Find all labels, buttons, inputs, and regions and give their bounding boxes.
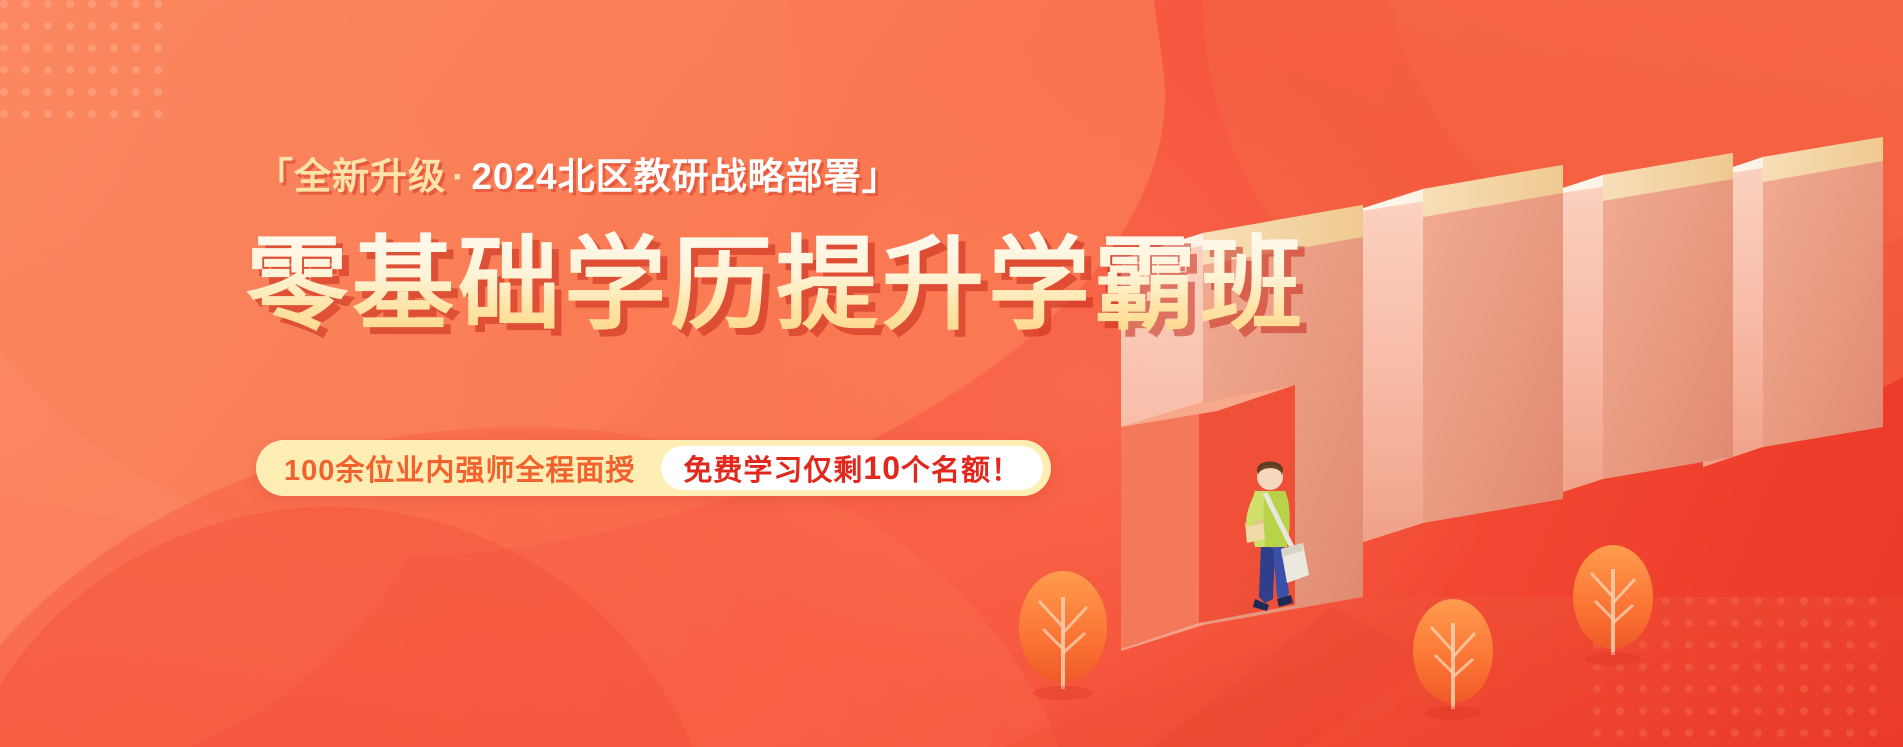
pill-left-label: 100余位业内强师全程面授 [284, 447, 661, 489]
promo-banner: 「全新升级·2024北区教研战略部署」 零基础学历提升学霸班 100余位业内强师… [0, 0, 1903, 747]
pill-right-number: 10 [863, 450, 901, 487]
book-block-3 [1535, 153, 1733, 501]
pill-right-suffix: 个名额！ [901, 447, 1021, 489]
illustration-isometric-books [1003, 127, 1903, 747]
banner-subtitle: 「全新升级·2024北区教研战略部署」 [256, 158, 900, 195]
pill-right-badge: 免费学习仅剩10个名额！ [661, 446, 1043, 490]
banner-title: 零基础学历提升学霸班 [246, 228, 1306, 342]
banner-text-content: 「全新升级·2024北区教研战略部署」 零基础学历提升学霸班 100余位业内强师… [0, 0, 1060, 747]
subtitle-gold-text: 全新升级 [294, 156, 446, 197]
subtitle-close-bracket: 」 [862, 156, 900, 197]
book-block-2 [1348, 165, 1563, 547]
subtitle-separator-icon: · [446, 156, 471, 197]
pill-right-prefix: 免费学习仅剩 [683, 447, 863, 489]
subtitle-open-bracket: 「 [256, 156, 294, 197]
banner-highlight-pill: 100余位业内强师全程面授 免费学习仅剩10个名额！ [256, 440, 1051, 496]
subtitle-white-text: 2024北区教研战略部署 [471, 156, 861, 197]
